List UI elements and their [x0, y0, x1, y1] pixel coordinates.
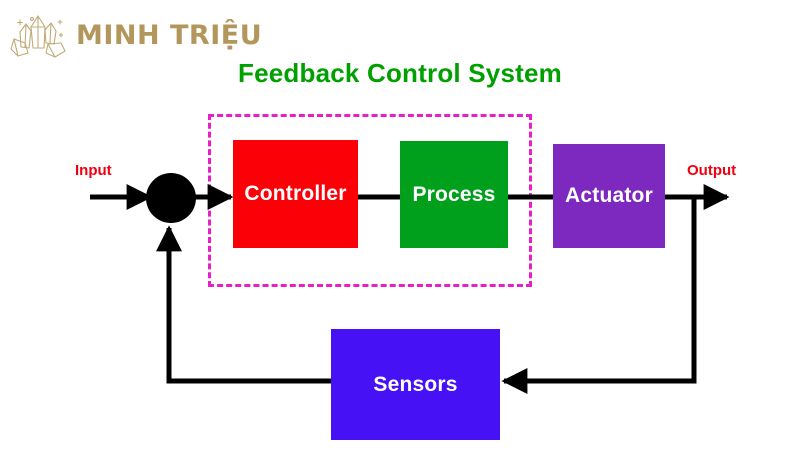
diagram-canvas: MINH TRIỆU Feedback Control System — [0, 0, 800, 450]
brand-name: MINH TRIỆU — [76, 22, 262, 49]
block-controller[interactable]: Controller — [233, 140, 358, 248]
block-process-label: Process — [412, 183, 495, 207]
crystal-cluster-icon — [8, 10, 70, 60]
block-actuator-label: Actuator — [565, 184, 653, 208]
signal-label-input: Input — [75, 162, 112, 179]
page-title: Feedback Control System — [0, 58, 800, 89]
block-controller-label: Controller — [244, 182, 346, 206]
brand-logo: MINH TRIỆU — [8, 10, 262, 60]
signal-label-output: Output — [687, 162, 736, 179]
block-sensors-label: Sensors — [373, 373, 457, 397]
summing-junction — [146, 173, 196, 223]
block-actuator[interactable]: Actuator — [553, 144, 665, 248]
block-process[interactable]: Process — [400, 141, 508, 248]
block-sensors[interactable]: Sensors — [331, 329, 500, 440]
